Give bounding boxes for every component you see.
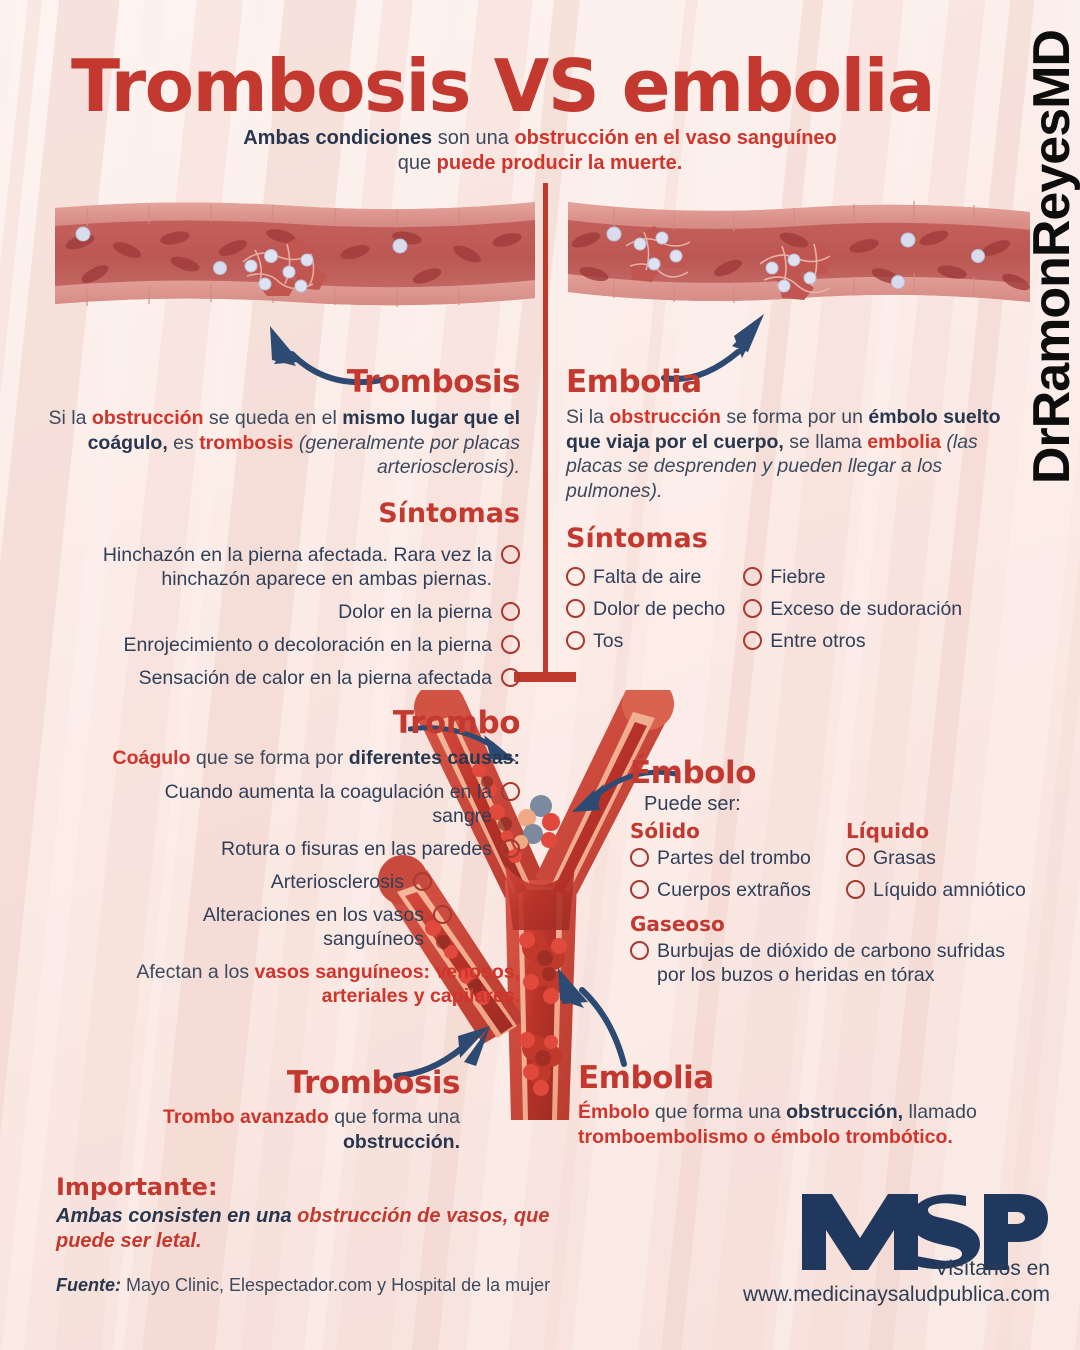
embolism-symptoms-heading: Síntomas: [566, 523, 1036, 554]
bullet-circle-icon[interactable]: [501, 545, 520, 564]
bullet-circle-icon[interactable]: [743, 599, 762, 618]
item-label: Cuerpos extraños: [657, 878, 811, 902]
embolo-category-gaseoso: Gaseoso Burbujas de dióxido de carbono s…: [630, 912, 1050, 987]
subtitle-part-1: Ambas condiciones: [243, 127, 432, 149]
page-title: Trombosis VS embolia: [0, 44, 1005, 128]
subtitle-part-5: puede producir la muerte.: [437, 152, 683, 174]
trombo-lead: Coágulo que se forma por diferentes caus…: [110, 746, 520, 771]
thrombosis-symptoms-heading: Síntomas: [20, 498, 520, 529]
list-item[interactable]: Dolor en la pierna: [20, 600, 520, 624]
text-seg: obstrucción.: [343, 1131, 460, 1153]
item-label: Partes del trombo: [657, 846, 811, 870]
category-label: Líquido: [846, 819, 929, 843]
bullet-circle-icon[interactable]: [501, 668, 520, 687]
list-item[interactable]: Entre otros: [743, 629, 962, 653]
bullet-circle-icon[interactable]: [743, 631, 762, 650]
embolus-particles: [514, 795, 560, 849]
bullet-circle-icon[interactable]: [630, 848, 649, 867]
list-item[interactable]: Partes del trombo: [630, 846, 834, 870]
subtitle-part-4: que: [398, 152, 437, 174]
desc-seg: es: [168, 432, 199, 454]
center-divider-line: [543, 183, 548, 680]
embolism-description: Si la obstrucción se forma por un émbolo…: [566, 405, 1036, 503]
cause-label: Arteriosclerosis: [271, 870, 404, 894]
desc-seg: obstrucción: [92, 407, 204, 429]
bullet-circle-icon[interactable]: [630, 880, 649, 899]
thrombosis-symptoms-list: Hinchazón en la pierna afectada. Rara ve…: [20, 543, 520, 690]
vessel-illustration-thrombosis: [55, 190, 535, 320]
bullet-circle-icon[interactable]: [846, 848, 865, 867]
list-item[interactable]: Enrojecimiento o decoloración en la pier…: [20, 633, 520, 657]
footer-seg: Afectan a los: [136, 961, 254, 983]
symptom-label: Exceso de sudoración: [770, 597, 962, 621]
list-item[interactable]: Cuerpos extraños: [630, 878, 834, 902]
bottom-trombosis-section: Trombosis Trombo avanzado que forma una …: [130, 1065, 460, 1154]
list-item[interactable]: Hinchazón en la pierna afectada. Rara ve…: [20, 543, 520, 591]
text-seg: Ambas consisten en una: [56, 1205, 297, 1227]
embolo-category-solido: Sólido Partes del trombo Cuerpos extraño…: [630, 819, 834, 902]
importante-label: Importante:: [56, 1173, 576, 1201]
footer-seg: vasos sanguíneos: venosos, arteriales y …: [254, 961, 520, 1008]
cause-label: Cuando aumenta la coagulación en la sang…: [110, 780, 492, 828]
text-seg: llamado: [903, 1101, 977, 1123]
bottom-embolia-heading: Embolia: [578, 1060, 998, 1096]
subtitle-part-3: obstrucción en el vaso sanguíneo: [514, 127, 836, 149]
list-item[interactable]: Falta de aire: [566, 565, 725, 589]
embolo-categories: Sólido Partes del trombo Cuerpos extraño…: [630, 819, 1050, 902]
symptom-label: Enrojecimiento o decoloración en la pier…: [123, 633, 492, 657]
source-line: Fuente: Mayo Clinic, Elespectador.com y …: [56, 1275, 550, 1296]
item-label: Burbujas de dióxido de carbono sufridas …: [657, 939, 1027, 987]
thrombosis-section: Trombosis Si la obstrucción se queda en …: [20, 364, 520, 699]
bullet-circle-icon[interactable]: [630, 941, 649, 960]
list-item[interactable]: Dolor de pecho: [566, 597, 725, 621]
importante-text: Ambas consisten en una obstrucción de va…: [56, 1204, 576, 1254]
lead-seg: que se forma por: [191, 747, 349, 769]
text-seg: que forma una: [650, 1101, 787, 1123]
bullet-circle-icon[interactable]: [743, 567, 762, 586]
infographic-canvas: Trombosis VS embolia Ambas condiciones s…: [0, 0, 1080, 1350]
source-text: Mayo Clinic, Elespectador.com y Hospital…: [121, 1275, 550, 1295]
list-item[interactable]: Grasas: [846, 846, 1050, 870]
visit-line-1: Visítanos en: [935, 1257, 1050, 1280]
bottom-embolia-section: Embolia Émbolo que forma una obstrucción…: [578, 1060, 998, 1149]
category-label: Gaseoso: [630, 912, 725, 936]
trombo-footer: Afectan a los vasos sanguíneos: venosos,…: [110, 960, 520, 1009]
bullet-circle-icon[interactable]: [566, 599, 585, 618]
symptom-label: Sensación de calor en la pierna afectada: [139, 666, 492, 690]
bullet-circle-icon[interactable]: [501, 602, 520, 621]
embolism-section: Embolia Si la obstrucción se forma por u…: [566, 364, 1036, 653]
list-item[interactable]: Sensación de calor en la pierna afectada: [20, 666, 520, 690]
bullet-circle-icon[interactable]: [846, 880, 865, 899]
symptom-label: Dolor de pecho: [593, 597, 725, 621]
embolism-heading: Embolia: [566, 364, 702, 400]
list-item[interactable]: Arteriosclerosis: [110, 870, 432, 894]
cause-label: Rotura o fisuras en las paredes: [221, 837, 492, 861]
desc-seg: obstrucción: [609, 406, 721, 428]
trombo-heading: Trombo: [110, 705, 520, 741]
symptom-label: Falta de aire: [593, 565, 701, 589]
list-item[interactable]: Burbujas de dióxido de carbono sufridas …: [630, 939, 1050, 987]
desc-seg: Si la: [566, 406, 609, 428]
symptom-label: Entre otros: [770, 629, 865, 653]
msp-footer: Visítanos en www.medicinaysaludpublica.c…: [670, 1208, 1050, 1308]
bullet-circle-icon[interactable]: [566, 631, 585, 650]
bullet-circle-icon[interactable]: [413, 872, 432, 891]
bullet-circle-icon[interactable]: [433, 905, 452, 924]
bullet-circle-icon[interactable]: [501, 635, 520, 654]
desc-seg: se llama: [784, 431, 867, 453]
bottom-trombosis-text: Trombo avanzado que forma una obstrucció…: [130, 1105, 460, 1154]
source-label: Fuente:: [56, 1275, 121, 1295]
bullet-circle-icon[interactable]: [501, 839, 520, 858]
importante-section: Importante: Ambas consisten en una obstr…: [56, 1173, 576, 1254]
symptom-label: Hinchazón en la pierna afectada. Rara ve…: [20, 543, 492, 591]
embolo-section: Émbolo Puede ser: Sólido Partes del trom…: [630, 755, 1050, 987]
list-item[interactable]: Cuando aumenta la coagulación en la sang…: [110, 780, 520, 828]
embolism-symptoms-grid: Falta de aire Dolor de pecho Tos Fiebre: [566, 565, 1036, 653]
trombo-section: Trombo Coágulo que se forma por diferent…: [110, 705, 520, 1009]
desc-seg: Si la: [49, 407, 92, 429]
desc-seg: se queda en el: [204, 407, 343, 429]
thrombosis-heading: Trombosis: [20, 364, 520, 400]
symptom-label: Fiebre: [770, 565, 825, 589]
embolo-heading: Émbolo: [630, 755, 1050, 791]
desc-seg: se forma por un: [721, 406, 868, 428]
text-seg: que forma una: [329, 1106, 460, 1128]
text-seg: Émbolo: [578, 1101, 650, 1123]
bottom-trombosis-heading: Trombosis: [130, 1065, 460, 1101]
lead-seg: Coágulo: [113, 747, 191, 769]
desc-seg: embolia: [867, 431, 941, 453]
arrow-to-embolia-bottom-icon: [528, 960, 638, 1070]
thrombosis-description: Si la obstrucción se queda en el mismo l…: [20, 406, 520, 480]
embolo-puede-ser: Puede ser:: [644, 793, 1050, 816]
embolism-symptoms-col-1: Falta de aire Dolor de pecho Tos: [566, 565, 725, 653]
symptom-label: Dolor en la pierna: [338, 600, 492, 624]
text-seg: obstrucción,: [786, 1101, 903, 1123]
subtitle-part-2: son una: [432, 127, 514, 149]
list-item[interactable]: Rotura o fisuras en las paredes: [110, 837, 520, 861]
lead-seg: diferentes causas:: [349, 747, 520, 769]
item-label: Grasas: [873, 846, 936, 870]
bullet-circle-icon[interactable]: [501, 782, 520, 801]
vessel-illustration-embolism: [568, 190, 1030, 320]
list-item[interactable]: Alteraciones en los vasos sanguíneos: [110, 903, 452, 951]
visit-line-2[interactable]: www.medicinaysaludpublica.com: [743, 1283, 1050, 1306]
list-item[interactable]: Tos: [566, 629, 725, 653]
text-seg: tromboembolismo o émbolo trombótico.: [578, 1126, 953, 1148]
symptom-label: Tos: [593, 629, 623, 653]
category-label: Sólido: [630, 819, 700, 843]
list-item[interactable]: Líquido amniótico: [846, 878, 1050, 902]
text-seg: Trombo avanzado: [163, 1106, 329, 1128]
desc-seg: (generalmente por placas arteriosclerosi…: [293, 432, 520, 479]
embolo-category-liquido: Líquido Grasas Líquido amniótico: [846, 819, 1050, 902]
page-subtitle: Ambas condiciones son una obstrucción en…: [230, 126, 850, 176]
embolism-symptoms-col-2: Fiebre Exceso de sudoración Entre otros: [743, 565, 962, 653]
list-item[interactable]: Exceso de sudoración: [743, 597, 962, 621]
item-label: Líquido amniótico: [873, 878, 1026, 902]
center-divider-cap: [514, 672, 576, 682]
list-item[interactable]: Fiebre: [743, 565, 962, 589]
trombo-causes-list: Cuando aumenta la coagulación en la sang…: [110, 780, 520, 951]
bullet-circle-icon[interactable]: [566, 567, 585, 586]
cause-label: Alteraciones en los vasos sanguíneos: [110, 903, 424, 951]
bottom-embolia-text: Émbolo que forma una obstrucción, llamad…: [578, 1100, 998, 1149]
visit-text: Visítanos en www.medicinaysaludpublica.c…: [670, 1256, 1050, 1308]
desc-seg: trombosis: [199, 432, 293, 454]
